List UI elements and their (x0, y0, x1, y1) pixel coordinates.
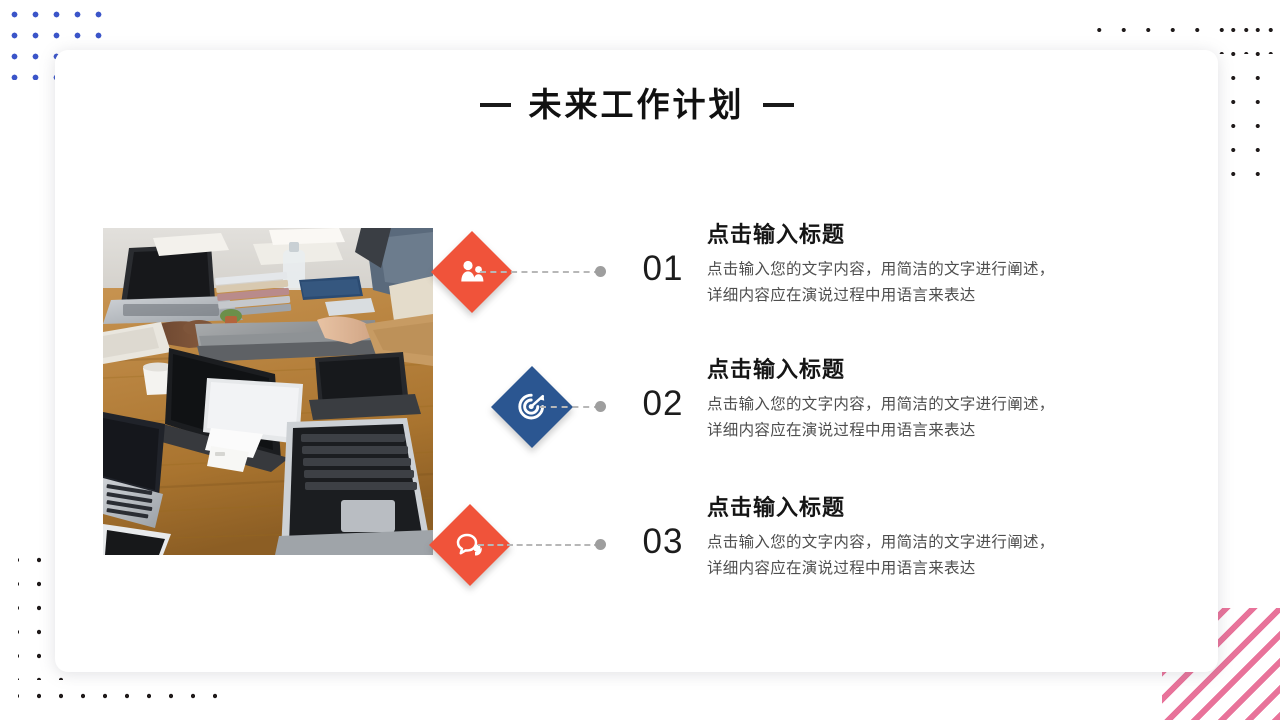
item-title-02: 点击输入标题 (707, 357, 1177, 383)
title-rule-right-icon (763, 103, 794, 107)
item-number-02: 02 (630, 383, 696, 425)
item-text-03: 点击输入标题 点击输入您的文字内容，用简洁的文字进行阐述， 详细内容应在演说过程… (707, 495, 1177, 581)
decor-dots-bottom-left-row (18, 676, 228, 716)
item-desc-01: 点击输入您的文字内容，用简洁的文字进行阐述， 详细内容应在演说过程中用语言来表达 (707, 257, 1177, 307)
item-desc-03-line2: 详细内容应在演说过程中用语言来表达 (707, 560, 976, 577)
item-desc-02-line2: 详细内容应在演说过程中用语言来表达 (707, 422, 976, 439)
connector-endpoint-03 (595, 539, 606, 550)
item-title-03: 点击输入标题 (707, 495, 1177, 521)
item-desc-01-line2: 详细内容应在演说过程中用语言来表达 (707, 287, 976, 304)
list-item: 01 点击输入标题 点击输入您的文字内容，用简洁的文字进行阐述， 详细内容应在演… (55, 212, 1218, 332)
list-item: 02 点击输入标题 点击输入您的文字内容，用简洁的文字进行阐述， 详细内容应在演… (55, 347, 1218, 467)
item-number-03: 03 (630, 521, 696, 563)
item-number-01: 01 (630, 248, 696, 290)
connector-endpoint-01 (595, 266, 606, 277)
connector-line-01 (480, 271, 600, 275)
connector-line-02 (540, 406, 600, 410)
decor-dots-top-right-col (1218, 10, 1280, 180)
item-text-02: 点击输入标题 点击输入您的文字内容，用简洁的文字进行阐述， 详细内容应在演说过程… (707, 357, 1177, 443)
title-rule-left-icon (480, 103, 511, 107)
item-desc-01-line1: 点击输入您的文字内容，用简洁的文字进行阐述， (707, 261, 1055, 278)
item-desc-02: 点击输入您的文字内容，用简洁的文字进行阐述， 详细内容应在演说过程中用语言来表达 (707, 392, 1177, 442)
connector-endpoint-02 (595, 401, 606, 412)
page-title-text: 未来工作计划 (529, 88, 745, 121)
page-title: 未来工作计划 (55, 88, 1218, 121)
item-desc-03: 点击输入您的文字内容，用简洁的文字进行阐述， 详细内容应在演说过程中用语言来表达 (707, 530, 1177, 580)
item-desc-03-line1: 点击输入您的文字内容，用简洁的文字进行阐述， (707, 534, 1055, 551)
item-title-01: 点击输入标题 (707, 222, 1177, 248)
item-text-01: 点击输入标题 点击输入您的文字内容，用简洁的文字进行阐述， 详细内容应在演说过程… (707, 222, 1177, 308)
slide-canvas: 未来工作计划 (0, 0, 1280, 720)
item-desc-02-line1: 点击输入您的文字内容，用简洁的文字进行阐述， (707, 396, 1055, 413)
list-item: 03 点击输入标题 点击输入您的文字内容，用简洁的文字进行阐述， 详细内容应在演… (55, 485, 1218, 605)
connector-line-03 (478, 544, 600, 548)
slide-card: 未来工作计划 (55, 50, 1218, 672)
